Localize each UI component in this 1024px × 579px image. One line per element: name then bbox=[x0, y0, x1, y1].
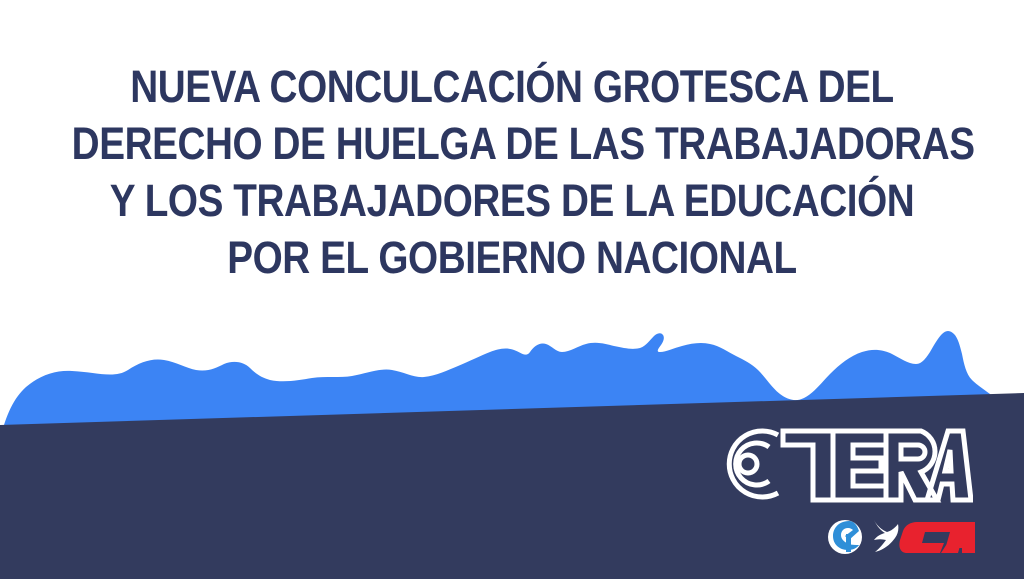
ctera-logo bbox=[705, 422, 973, 508]
headline-line-4: POR EL GOBIERNO NACIONAL bbox=[72, 229, 953, 286]
cta-bird-icon bbox=[874, 520, 898, 552]
headline-line-2: DERECHO DE HUELGA DE LAS TRABAJADORAS bbox=[72, 115, 953, 172]
headline-line-3: Y LOS TRABAJADORES DE LA EDUCACIÓN bbox=[72, 172, 953, 229]
headline-line-1: NUEVA CONCULCACIÓN GROTESCA DEL bbox=[72, 58, 953, 115]
ctera-letter-t bbox=[783, 431, 833, 500]
ctera-c-ring-inner bbox=[739, 455, 757, 473]
page-title: NUEVA CONCULCACIÓN GROTESCA DEL DERECHO … bbox=[0, 58, 1024, 286]
logo-lockup bbox=[705, 422, 995, 567]
cta-wordmark-letters bbox=[899, 522, 975, 553]
poster-canvas: NUEVA CONCULCACIÓN GROTESCA DEL DERECHO … bbox=[0, 0, 1024, 579]
cta-logo bbox=[825, 514, 975, 560]
ctera-letter-e bbox=[833, 431, 886, 500]
